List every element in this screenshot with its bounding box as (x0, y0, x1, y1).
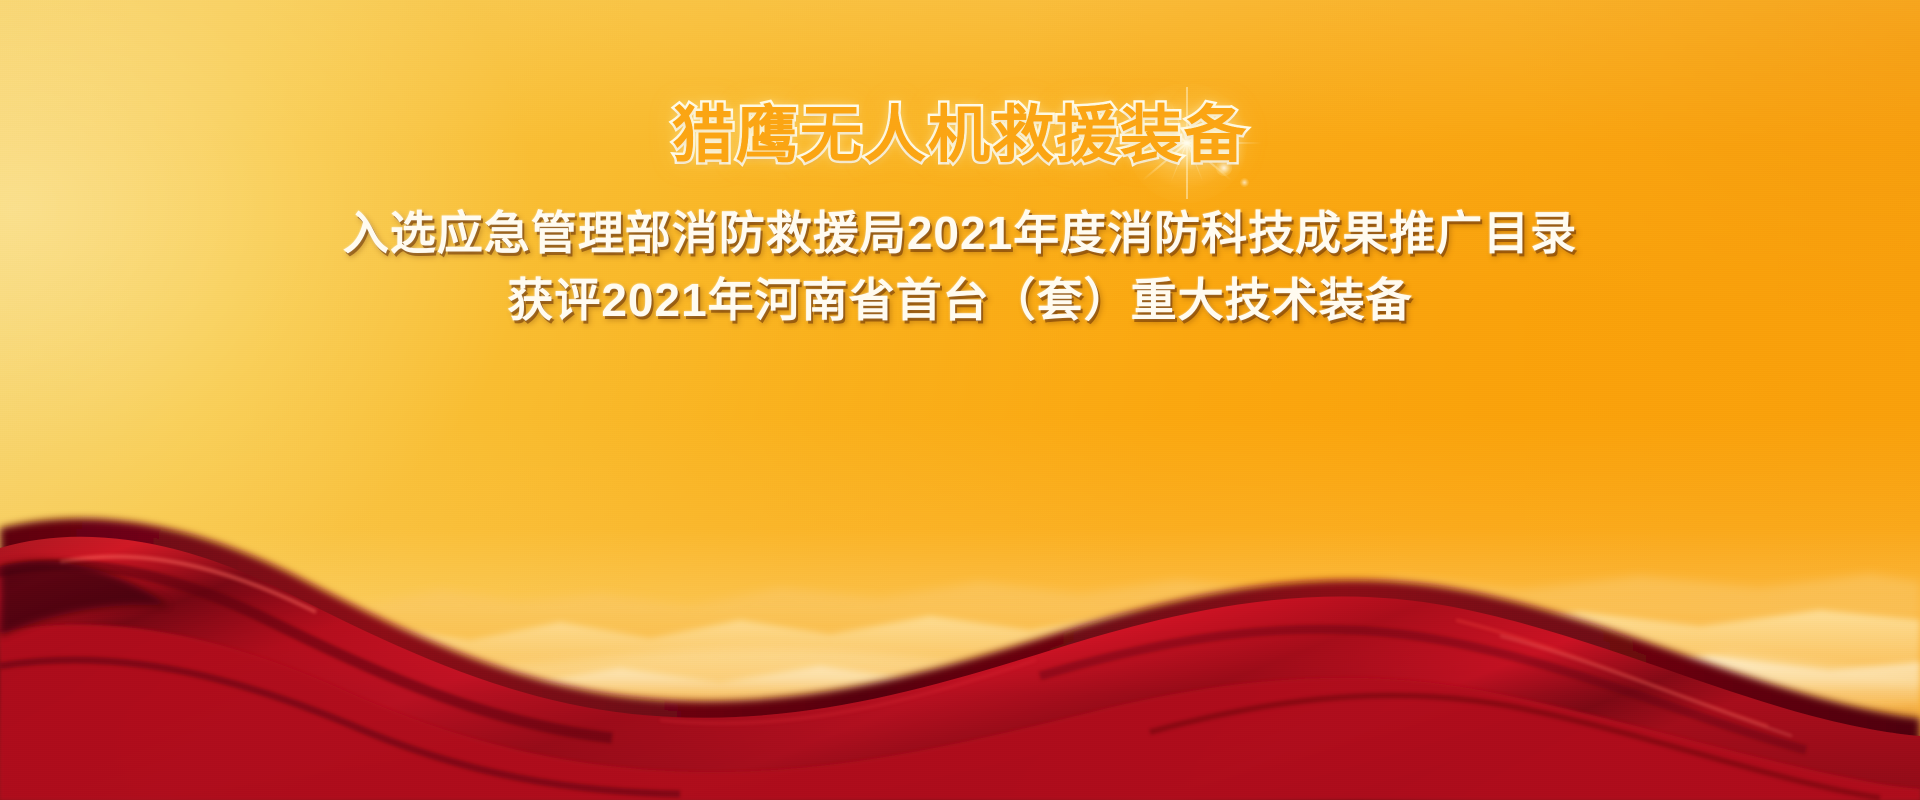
subtitle-line-2: 获评2021年河南省首台（套）重大技术装备 (0, 270, 1920, 331)
promo-banner: 猎鹰无人机救援装备 猎鹰无人机救援装备 入选应急管理部消防救援局2021年度消防… (0, 0, 1920, 800)
red-silk-ribbon-wave (0, 470, 1920, 800)
banner-text-block: 猎鹰无人机救援装备 猎鹰无人机救援装备 入选应急管理部消防救援局2021年度消防… (0, 104, 1920, 331)
page-title: 猎鹰无人机救援装备 (672, 104, 1248, 167)
subtitle-line-1: 入选应急管理部消防救援局2021年度消防科技成果推广目录 (0, 203, 1920, 264)
headline-wrapper: 猎鹰无人机救援装备 猎鹰无人机救援装备 (672, 104, 1248, 167)
